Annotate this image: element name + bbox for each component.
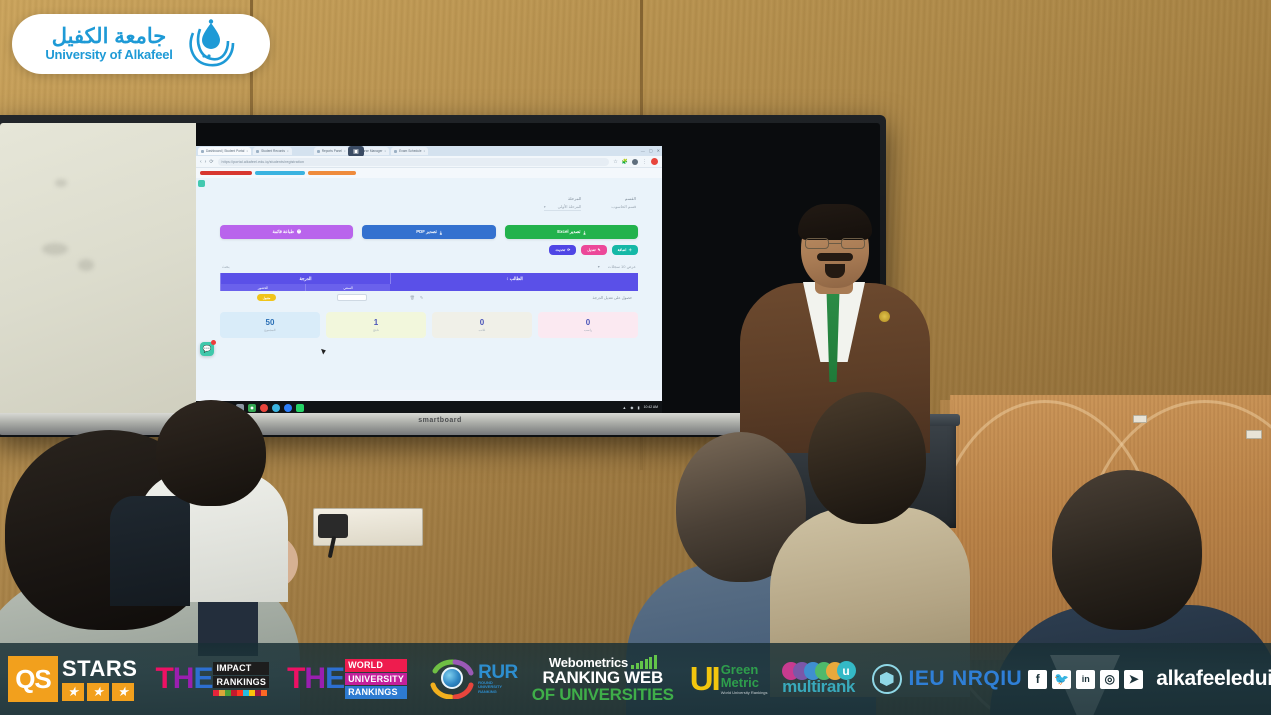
presenter-hair bbox=[798, 204, 872, 240]
wall-socket-right bbox=[1133, 415, 1147, 423]
table-group-header: الطالب ↕ الدرجة bbox=[220, 273, 638, 284]
wall-socket-far-right bbox=[1246, 430, 1262, 439]
edit-icon[interactable]: ✎ bbox=[420, 295, 423, 300]
multirank-word: multirank bbox=[782, 677, 855, 697]
score-input[interactable] bbox=[337, 294, 367, 301]
button-label: تحديث bbox=[555, 248, 565, 252]
tab-close-icon[interactable]: × bbox=[246, 149, 248, 153]
stat-value: 1 bbox=[374, 318, 378, 327]
logo-name-arabic: جامعة الكفيل bbox=[52, 26, 167, 48]
status-badge: مقبول bbox=[257, 294, 277, 301]
download-icon: ⤓ bbox=[583, 230, 585, 235]
search-input[interactable]: بحث bbox=[222, 264, 230, 269]
download-icon: ⤓ bbox=[440, 230, 442, 235]
print-icon: 🖶 bbox=[297, 228, 301, 236]
audience-head bbox=[808, 392, 926, 524]
presenter-beard bbox=[825, 264, 845, 278]
summary-stats: 0 راسب 0 غائب 1 ناجح 50 bbox=[204, 304, 654, 338]
power-plug-icon bbox=[318, 514, 348, 538]
toolbar-right[interactable]: ☆ 🧩 ⋮ bbox=[613, 158, 658, 165]
browser-tab[interactable]: Reports Panel × bbox=[314, 147, 349, 155]
star-icon[interactable]: ☆ bbox=[613, 159, 617, 165]
bookmark-chip[interactable] bbox=[255, 171, 305, 175]
plus-icon: ＋ bbox=[628, 248, 632, 253]
greenmetric-metric: Metric bbox=[721, 676, 768, 689]
tab-close-icon[interactable]: × bbox=[424, 149, 426, 153]
stat-card-total: 50 المجموع bbox=[220, 312, 320, 338]
stat-card-absent: 0 غائب bbox=[432, 312, 532, 338]
rur-name: RUR bbox=[478, 664, 518, 681]
multirank-badge: u bbox=[837, 661, 856, 680]
qs-stars-logo: QS STARS ★ ★ ★ bbox=[8, 656, 137, 702]
button-label: اضافة bbox=[618, 248, 627, 252]
chat-bubble-icon: 💬 bbox=[203, 345, 212, 353]
button-label: تصدير Excel bbox=[557, 229, 580, 235]
extensions-icon[interactable]: 🧩 bbox=[622, 159, 628, 165]
delete-icon[interactable]: 🗑 bbox=[410, 295, 415, 300]
address-bar[interactable]: https://portal.alkafeel.edu.iq/students/… bbox=[218, 158, 610, 166]
rur-emblem-icon bbox=[429, 659, 475, 699]
bookmarks-bar[interactable] bbox=[196, 168, 662, 178]
screenshot-stage: Dashboard | Student Portal × Student Rec… bbox=[0, 0, 1271, 715]
field-department[interactable]: القسم قسم الحاسوب bbox=[611, 196, 636, 211]
lapel-pin-icon bbox=[879, 311, 890, 322]
audience-head bbox=[156, 400, 266, 506]
the-wordmark: THE bbox=[155, 664, 212, 694]
presenter-moustache bbox=[817, 253, 853, 261]
forward-icon[interactable]: › bbox=[205, 159, 207, 165]
sub-header-spacer bbox=[390, 284, 638, 291]
audience-head bbox=[1052, 470, 1202, 630]
rankings-footer-banner: QS STARS ★ ★ ★ THE IMPACT RANKINGS bbox=[0, 643, 1271, 715]
taskbar-clock[interactable]: 10:42 AM bbox=[644, 406, 658, 410]
browser-tab[interactable]: Student Records × bbox=[253, 147, 292, 155]
refresh-icon: ⟳ bbox=[567, 248, 570, 252]
webometrics-line2: OF UNIVERSITIES bbox=[532, 686, 674, 703]
star-icon: ★ bbox=[62, 683, 84, 701]
bar-chart-icon bbox=[631, 655, 657, 669]
close-icon[interactable]: ✕ bbox=[657, 148, 660, 153]
presenter-glasses-icon bbox=[805, 238, 865, 249]
browser-tabstrip[interactable]: Dashboard | Student Portal × Student Rec… bbox=[196, 146, 662, 156]
ui-letters: UI bbox=[690, 665, 719, 693]
qs-mark: QS bbox=[8, 656, 58, 702]
qs-star-row: ★ ★ ★ bbox=[62, 683, 137, 701]
star-icon: ★ bbox=[112, 683, 134, 701]
maximize-icon[interactable]: ▢ bbox=[649, 148, 653, 153]
chevron-down-icon[interactable]: ▾ bbox=[544, 205, 546, 209]
field-label: المرحلة bbox=[544, 196, 582, 201]
stat-label: غائب bbox=[479, 328, 486, 332]
chevron-down-icon[interactable]: ▾ bbox=[598, 264, 600, 269]
secondary-action-bar[interactable]: ＋ اضافة ✎ تعديل ⟳ تحديث bbox=[204, 239, 654, 255]
twitter-icon[interactable]: 🐦 bbox=[1052, 670, 1071, 689]
column-effort[interactable]: الحضور bbox=[220, 284, 305, 291]
stat-value: 0 bbox=[480, 318, 484, 327]
facebook-icon[interactable]: f bbox=[1028, 670, 1047, 689]
field-value: المرحلة الأولى bbox=[558, 204, 582, 209]
logo-text: جامعة الكفيل University of Alkafeel bbox=[45, 26, 172, 62]
social-icons[interactable]: f 🐦 in ◎ ➤ alkafeeleduiq bbox=[1028, 667, 1271, 691]
the-impact-rankings-logo: THE IMPACT RANKINGS bbox=[155, 659, 269, 699]
qs-word: STARS bbox=[62, 658, 137, 680]
board-brand-logo: smartboard bbox=[418, 417, 462, 424]
star-icon: ★ bbox=[87, 683, 109, 701]
battery-icon[interactable]: ▮ bbox=[637, 405, 639, 410]
logo-name-english: University of Alkafeel bbox=[45, 48, 172, 62]
rur-logo: RUR ROUND UNIVERSITY RANKING bbox=[429, 659, 518, 699]
tab-favicon bbox=[256, 150, 259, 153]
export-excel-button[interactable]: ⤓ تصدير Excel bbox=[505, 225, 638, 239]
column-attendance[interactable]: السعي bbox=[305, 284, 390, 291]
button-label: طباعة قائمة bbox=[272, 229, 293, 235]
bookmark-chip[interactable] bbox=[200, 171, 252, 175]
add-button[interactable]: ＋ اضافة bbox=[612, 245, 638, 255]
tab-favicon bbox=[317, 150, 320, 153]
qs-right: STARS ★ ★ ★ bbox=[58, 656, 137, 702]
button-label: تصدير PDF bbox=[416, 229, 437, 235]
extension-badge-icon[interactable] bbox=[651, 158, 658, 165]
volume-icon[interactable]: ◆ bbox=[630, 405, 633, 410]
rur-text: RUR ROUND UNIVERSITY RANKING bbox=[478, 664, 518, 695]
audience-jacket bbox=[110, 496, 190, 606]
browser-toolbar[interactable]: ‹ › ⟳ https://portal.alkafeel.edu.iq/stu… bbox=[196, 156, 662, 168]
edit-button[interactable]: ✎ تعديل bbox=[581, 245, 606, 255]
stat-card-failed: 0 راسب bbox=[538, 312, 638, 338]
webometrics-line1: RANKING WEB bbox=[543, 669, 663, 686]
field-value[interactable]: قسم الحاسوب bbox=[611, 204, 636, 209]
stat-value: 50 bbox=[266, 318, 275, 327]
tab-title: Dashboard | Student Portal bbox=[206, 149, 244, 153]
table-sub-header: السعي الحضور bbox=[220, 284, 638, 291]
minimize-icon[interactable]: — bbox=[641, 148, 645, 153]
tab-title: Reports Panel bbox=[322, 149, 342, 153]
back-icon[interactable]: ‹ bbox=[200, 159, 202, 165]
cell-status: مقبول bbox=[224, 294, 309, 301]
column-group-student[interactable]: الطالب ↕ bbox=[390, 273, 638, 284]
taskbar-tray[interactable]: ▲ ◆ ▮ 10:42 AM bbox=[622, 405, 658, 410]
tab-close-icon[interactable]: × bbox=[384, 149, 386, 153]
edit-icon: ✎ bbox=[598, 248, 601, 252]
entries-label: عرض 10 سجلات bbox=[608, 264, 636, 269]
linkedin-icon[interactable]: in bbox=[1076, 670, 1095, 689]
university-logo-badge: جامعة الكفيل University of Alkafeel bbox=[12, 14, 270, 74]
refresh-button[interactable]: ⟳ تحديث bbox=[549, 245, 576, 255]
button-label: تعديل bbox=[587, 248, 595, 252]
primary-action-bar[interactable]: ⤓ تصدير Excel ⤓ تصدير PDF 🖶 طباعة قائمة bbox=[204, 213, 654, 239]
webometrics-top: Webometrics bbox=[549, 655, 657, 669]
wifi-icon[interactable]: ▲ bbox=[622, 405, 626, 410]
stat-label: ناجح bbox=[373, 328, 379, 332]
social-handle: alkafeeleduiq bbox=[1156, 667, 1271, 691]
audience-member-left-back bbox=[110, 400, 320, 600]
alkafeel-droplet-icon bbox=[185, 19, 237, 69]
tab-favicon bbox=[394, 150, 397, 153]
tab-close-icon[interactable]: × bbox=[344, 149, 346, 153]
table-controls[interactable]: عرض 10 سجلات ▾ بحث bbox=[204, 255, 654, 269]
field-stage[interactable]: المرحلة المرحلة الأولى ▾ bbox=[544, 196, 582, 211]
browser-tab[interactable]: Exam Schedule × bbox=[391, 147, 428, 155]
nrqiu-label: NRQIU bbox=[952, 667, 1022, 691]
tab-title: Student Records bbox=[261, 149, 285, 153]
field-select[interactable]: المرحلة الأولى ▾ bbox=[544, 204, 582, 211]
browser-window[interactable]: Dashboard | Student Portal × Student Rec… bbox=[196, 146, 662, 414]
impact-band: IMPACT bbox=[213, 662, 269, 674]
greenmetric-sub: World University Rankings bbox=[721, 691, 768, 695]
greenmetric-text: Green Metric World University Rankings bbox=[721, 663, 768, 695]
rankings-band: RANKINGS bbox=[213, 676, 269, 688]
telegram-icon[interactable]: ➤ bbox=[1124, 670, 1143, 689]
sdg-color-strip bbox=[213, 690, 269, 696]
export-pdf-button[interactable]: ⤓ تصدير PDF bbox=[362, 225, 495, 239]
window-controls[interactable]: — ▢ ✕ bbox=[641, 148, 660, 153]
chat-widget-button[interactable]: 💬 bbox=[200, 342, 214, 356]
tab-favicon bbox=[201, 150, 204, 153]
the-wordmark: THE bbox=[287, 664, 344, 694]
the-bands: IMPACT RANKINGS bbox=[213, 662, 269, 696]
cell-row-actions[interactable]: ✎ 🗑 bbox=[394, 295, 439, 300]
print-list-button[interactable]: 🖶 طباعة قائمة bbox=[220, 225, 353, 239]
stat-value: 0 bbox=[586, 318, 590, 327]
the-world-university-rankings-logo: THE WORLD UNIVERSITY RANKINGS bbox=[287, 659, 407, 699]
stat-label: راسب bbox=[584, 328, 592, 332]
world-band: WORLD bbox=[345, 659, 407, 671]
browser-tab[interactable]: Dashboard | Student Portal × bbox=[198, 147, 251, 155]
u-multirank-logo: u multirank bbox=[782, 661, 856, 697]
rur-sub3: RANKING bbox=[478, 690, 518, 695]
app-page: القسم قسم الحاسوب المرحلة المرحلة الأولى… bbox=[196, 178, 662, 390]
ieu-label: IEU bbox=[909, 667, 946, 691]
university-band: UNIVERSITY bbox=[345, 673, 407, 685]
cell-score-input[interactable] bbox=[309, 294, 394, 301]
table-row[interactable]: حصول على تعديل الدرجة ✎ 🗑 مقبول bbox=[220, 291, 638, 304]
cell-student-name: حصول على تعديل الدرجة bbox=[439, 295, 634, 300]
rankings-band: RANKINGS bbox=[345, 686, 407, 698]
hexagon-icon bbox=[880, 672, 894, 686]
students-table[interactable]: الطالب ↕ الدرجة السعي الحضور حصول على تع… bbox=[220, 273, 638, 304]
sidebar-toggle-icon[interactable] bbox=[198, 180, 205, 187]
globe-icon bbox=[441, 667, 463, 689]
mouse-cursor-icon bbox=[321, 347, 327, 354]
whiteboard-surface bbox=[0, 123, 196, 423]
reload-icon[interactable]: ⟳ bbox=[209, 159, 213, 165]
bookmark-chip[interactable] bbox=[308, 171, 356, 175]
chat-badge bbox=[211, 340, 216, 345]
ieu-emblem-icon bbox=[872, 664, 902, 694]
menu-icon[interactable]: ⋮ bbox=[642, 159, 647, 165]
the-bands: WORLD UNIVERSITY RANKINGS bbox=[345, 659, 407, 698]
instagram-icon[interactable]: ◎ bbox=[1100, 670, 1119, 689]
entries-select[interactable]: عرض 10 سجلات ▾ bbox=[598, 264, 636, 269]
filter-form[interactable]: القسم قسم الحاسوب المرحلة المرحلة الأولى… bbox=[204, 184, 654, 213]
avatar[interactable] bbox=[632, 159, 638, 165]
field-label: القسم bbox=[611, 196, 636, 201]
tab-title: Exam Schedule bbox=[399, 149, 421, 153]
stat-label: المجموع bbox=[264, 328, 275, 332]
ieu-nrqiu-logos: IEU NRQIU bbox=[872, 664, 1023, 694]
stat-card-passed: 1 ناجح bbox=[326, 312, 426, 338]
column-group-grade[interactable]: الدرجة bbox=[220, 273, 390, 284]
ui-greenmetric-logo: UI Green Metric World University Ranking… bbox=[690, 663, 768, 695]
tab-close-icon[interactable]: × bbox=[287, 149, 289, 153]
nav-icons[interactable]: ‹ › ⟳ bbox=[200, 159, 214, 165]
webometrics-logo: Webometrics RANKING WEB OF UNIVERSITIES bbox=[532, 655, 674, 703]
